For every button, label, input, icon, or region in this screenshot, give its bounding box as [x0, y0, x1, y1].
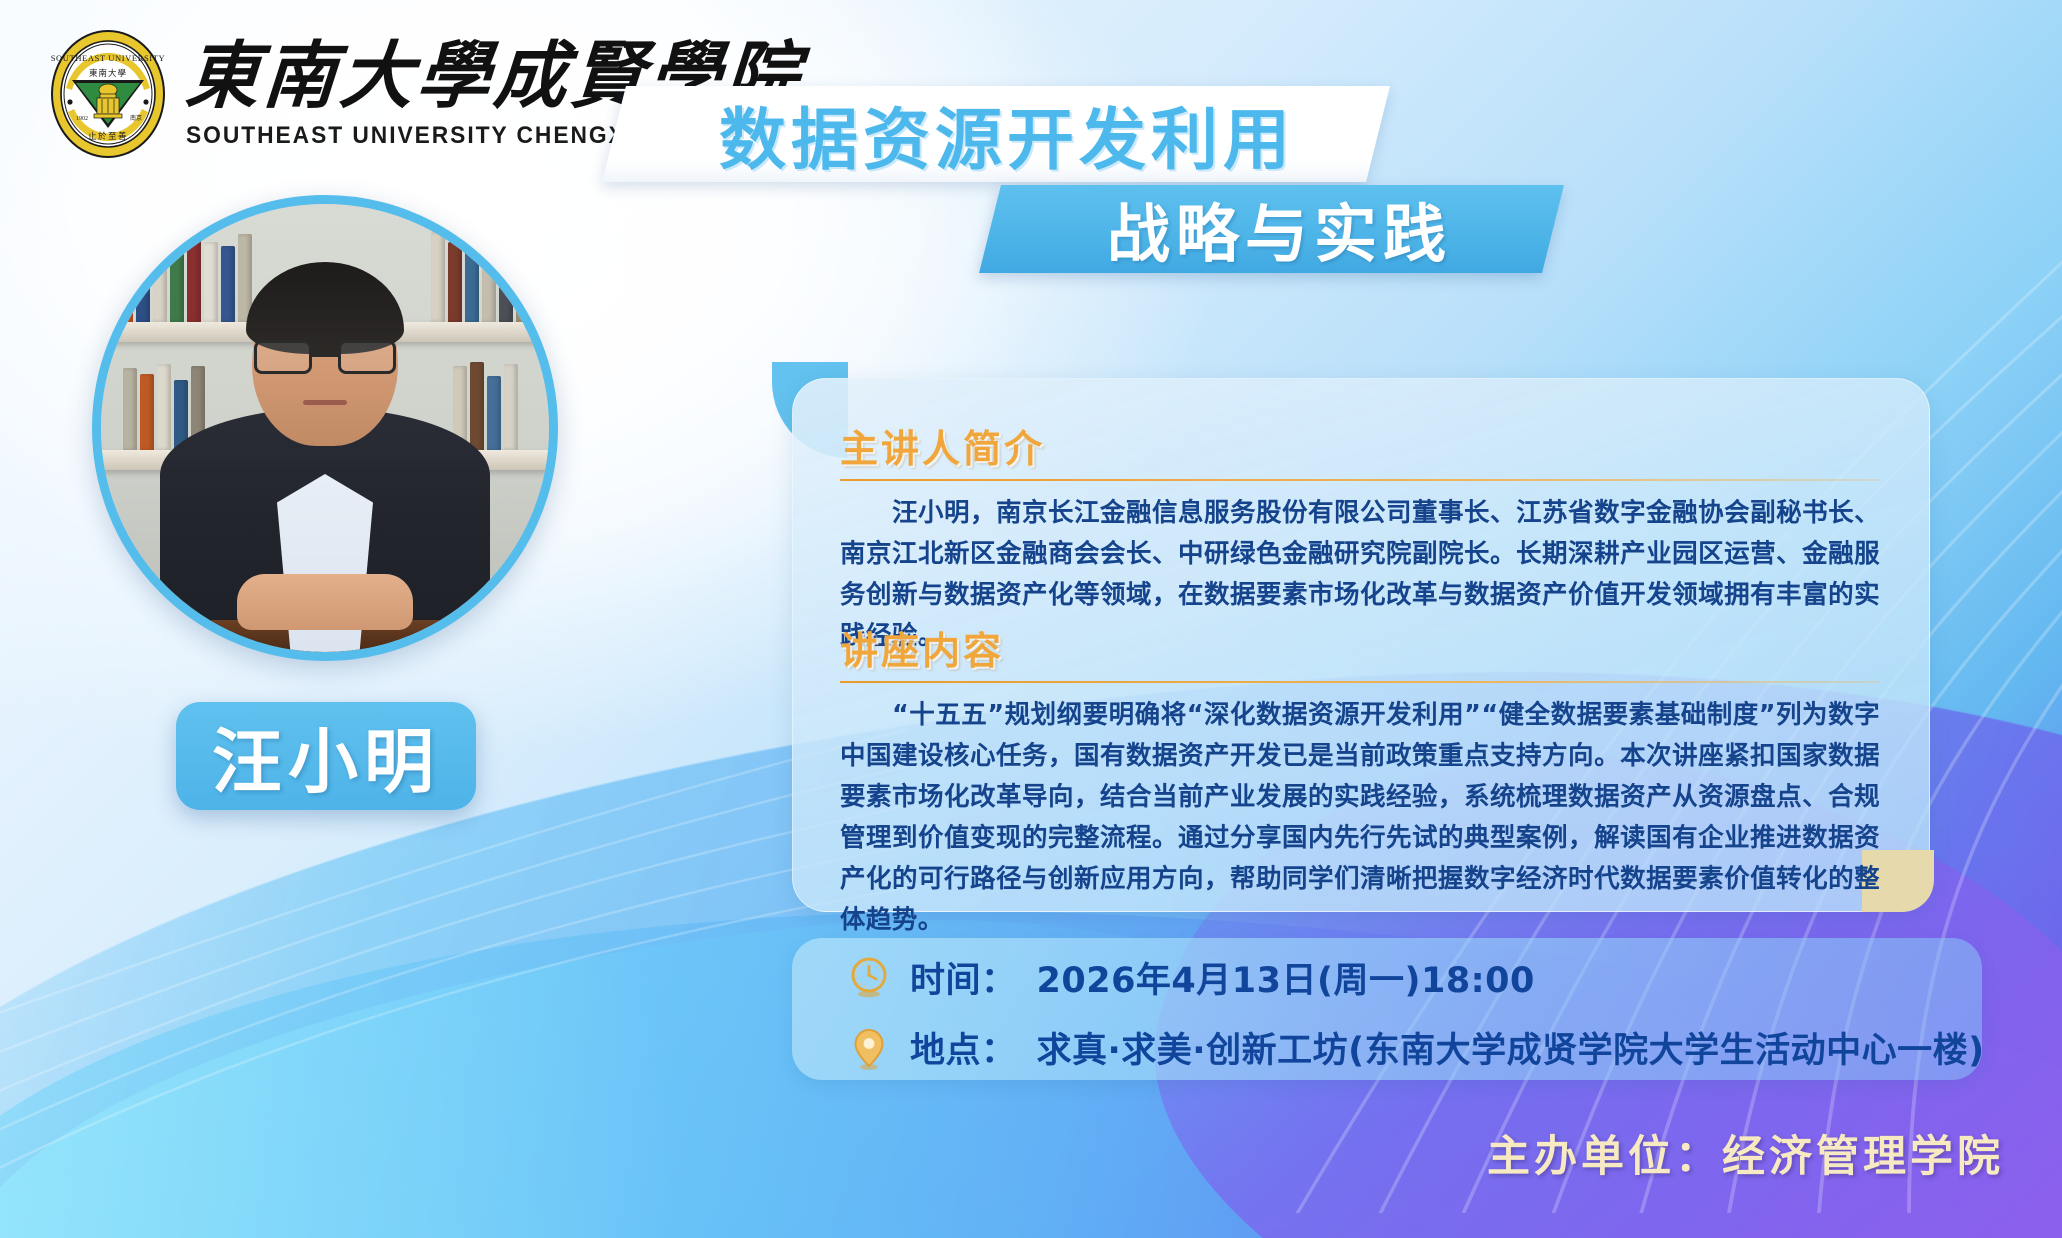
portrait-hands	[237, 574, 413, 630]
svg-text:南京: 南京	[130, 114, 142, 122]
event-time-value: 2026年4月13日(周一)18:00	[1037, 952, 1535, 1003]
speaker-name-badge: 汪小明	[176, 702, 476, 810]
svg-text:東南大學: 東南大學	[89, 68, 127, 78]
title-line2-text: 战略与实践	[990, 185, 1553, 273]
event-time-label: 时间：	[910, 952, 1017, 1003]
event-time-row: 时间： 2026年4月13日(周一)18:00	[848, 952, 1535, 1003]
speaker-portrait	[92, 195, 558, 661]
event-place-label: 地点：	[910, 1022, 1017, 1073]
lecture-content-rule	[840, 681, 1880, 683]
clock-icon	[848, 955, 890, 1001]
lecture-content-section: 讲座内容 “十五五”规划纲要明确将“深化数据资源开发利用”“健全数据要素基础制度…	[840, 620, 1900, 941]
location-pin-icon	[848, 1025, 890, 1071]
portrait-scene	[101, 204, 549, 652]
title-banner-line1: 数据资源开发利用	[602, 86, 1390, 182]
title-line1-text: 数据资源开发利用	[614, 86, 1378, 182]
svg-text:1902: 1902	[76, 116, 88, 122]
svg-text:止於至善: 止於至善	[88, 131, 128, 141]
title-banner-line2: 战略与实践	[979, 185, 1564, 273]
portrait-glasses	[254, 340, 396, 376]
poster-canvas: SOUTHEAST UNIVERSITY 止於至善 東南大學 1902 南京 東…	[0, 0, 2062, 1238]
svg-text:SOUTHEAST UNIVERSITY: SOUTHEAST UNIVERSITY	[51, 53, 166, 63]
event-place-value: 求真·求美·创新工坊(东南大学成贤学院大学生活动中心一楼)	[1037, 1022, 1985, 1073]
portrait-mouth	[303, 400, 347, 405]
university-seal-icon: SOUTHEAST UNIVERSITY 止於至善 東南大學 1902 南京	[48, 28, 168, 160]
lecture-content-body: “十五五”规划纲要明确将“深化数据资源开发利用”“健全数据要素基础制度”列为数字…	[840, 695, 1880, 941]
organizer-line: 主办单位：经济管理学院	[1487, 1122, 2004, 1184]
speaker-intro-rule	[840, 479, 1880, 481]
event-place-row: 地点： 求真·求美·创新工坊(东南大学成贤学院大学生活动中心一楼)	[848, 1022, 1985, 1073]
speaker-name-text: 汪小明	[212, 706, 440, 807]
lecture-content-heading: 讲座内容	[840, 620, 1900, 675]
speaker-intro-heading: 主讲人简介	[840, 418, 1900, 473]
